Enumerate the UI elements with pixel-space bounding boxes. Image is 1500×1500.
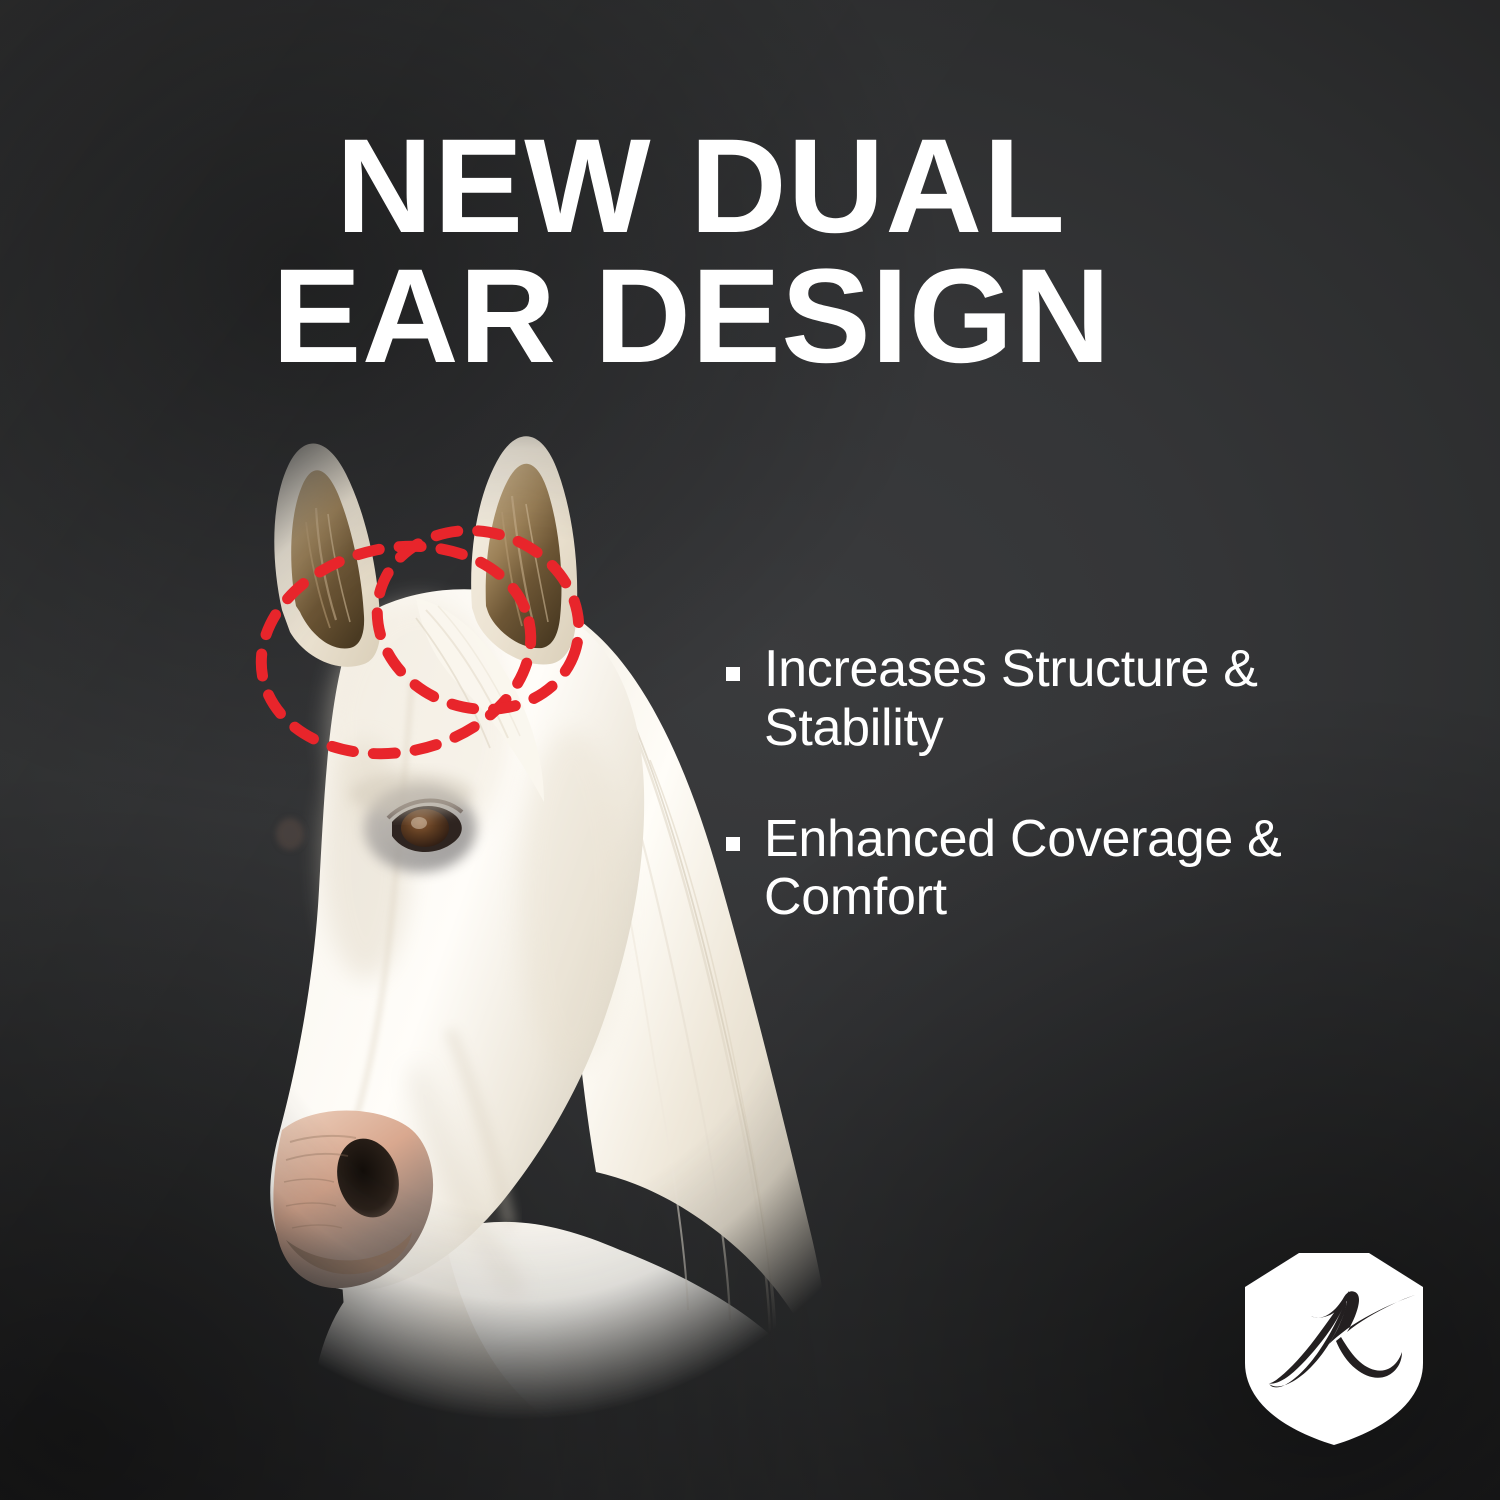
brand-logo (1243, 1251, 1425, 1447)
promo-banner: NEW DUAL EAR DESIGN (0, 0, 1500, 1500)
far-eye (276, 818, 304, 850)
kensington-shield-logo-icon (1243, 1251, 1425, 1447)
feature-text: Increases Structure & Stability (764, 640, 1394, 758)
square-bullet-icon (726, 667, 740, 681)
shield-shape (1245, 1253, 1423, 1445)
list-item: Enhanced Coverage & Comfort (726, 810, 1426, 928)
headline-line-2: EAR DESIGN (272, 252, 1252, 382)
page-title: NEW DUAL EAR DESIGN (272, 122, 1252, 382)
feature-list: Increases Structure & Stability Enhanced… (726, 640, 1426, 979)
square-bullet-icon (726, 837, 740, 851)
feature-text: Enhanced Coverage & Comfort (764, 810, 1394, 928)
list-item: Increases Structure & Stability (726, 640, 1426, 758)
headline-line-1: NEW DUAL (272, 122, 1252, 252)
horse-right-ear (471, 436, 577, 664)
brow-bone (350, 772, 474, 816)
horse-left-ear (274, 443, 380, 666)
